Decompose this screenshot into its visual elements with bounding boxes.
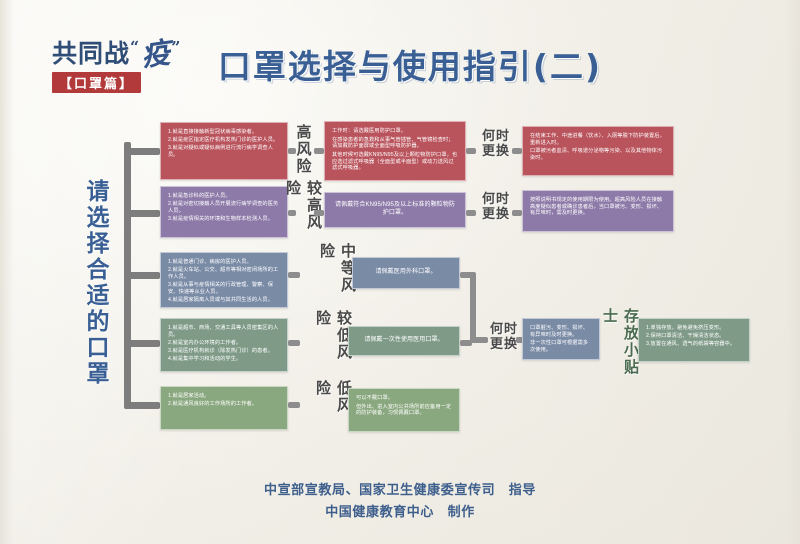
people-list-higher: 1.就是急诊科的医护人员。 2.就是对密切接触人员开展流行病学调查的医务人员。 …: [168, 193, 280, 223]
side-caption: 请选择合适的口罩: [76, 176, 116, 390]
people-box-medium: 1.就是普通门诊、病房的医护人员。 2.就是火车站、公交、超市等相对密闭场所的工…: [160, 252, 288, 308]
mask-box-medium: 请佩戴医用外科口罩。: [352, 257, 460, 289]
people-box-lower: 1.就是超市、商场、交通工具等人员密集区的人员。 2.就是室内办公环境的工作者。…: [160, 318, 288, 372]
page-title: 口罩选择与使用指引(二): [214, 44, 606, 90]
connector-5a: [288, 402, 300, 408]
risk-label-lower: 较低风险: [322, 310, 344, 372]
storage-tips-label: 存放小贴士: [608, 308, 632, 390]
people-box-higher: 1.就是急诊科的医护人员。 2.就是对密切接触人员开展流行病学调查的医务人员。 …: [160, 186, 288, 238]
replace-box-higher: 按照说明书规定的使用期限为使用。超高风险人员在接触高度疑似患者或确诊患者后，当口…: [522, 190, 674, 232]
branch-arm-5: [124, 402, 160, 409]
people-list-lower: 1.就是超市、商场、交通工具等人员密集区的人员。 2.就是室内办公环境的工作者。…: [168, 325, 280, 363]
footer-credits: 中宣部宣教局、国家卫生健康委宣传司 指导 中国健康教育中心 制作: [0, 479, 800, 522]
right-edge-shade: [786, 0, 800, 544]
people-list-low: 1.就是居家活动。 2.就是通风良好的工作场所的工作者。: [168, 393, 280, 408]
branch-arm-1: [124, 148, 160, 155]
people-list-high: 1.就是直接接触新型冠状病毒感染者。 2.就是疫区指定医疗机构发热门诊的医护人员…: [168, 129, 280, 159]
branch-arm-2: [124, 210, 160, 217]
connector-1c: [466, 148, 476, 154]
branch-arm-3: [124, 272, 160, 279]
infographic-poster: 共同战“疫” 【口罩篇】 口罩选择与使用指引(二) 请选择合适的口罩 1.就是直…: [0, 0, 800, 544]
storage-tips-list: 1.单独存放，避免避免挤压变形。 2.保持口罩清洁、干燥清洁状态。 3.放置在通…: [646, 325, 742, 348]
risk-label-medium: 中等风险: [326, 243, 348, 305]
mask-box-lower: 请佩戴一次性使用医用口罩。: [348, 326, 460, 356]
mask-box-high: 工作时：请选戴医用防护口罩。 在感染患者的急救和从事气管插管、气管镜检查时；请加…: [324, 121, 466, 181]
mask-box-low: 可以不戴口罩。 但外出、进入室内公共场所前应备用一定的防护装备，习惯佩戴口罩。: [348, 388, 460, 432]
footer-line-2: 中国健康教育中心 制作: [0, 501, 800, 522]
when-replace-label-1: 何时更换: [478, 129, 514, 158]
left-edge-shade: [0, 0, 14, 544]
merge-rail: [470, 272, 476, 340]
risk-label-low: 低风险: [322, 380, 344, 428]
connector-2c: [466, 210, 476, 216]
people-box-high: 1.就是直接接触新型冠状病毒感染者。 2.就是疫区指定医疗机构发热门诊的医护人员…: [160, 122, 288, 180]
connector-2d: [512, 210, 522, 216]
storage-tips-box: 1.单独存放，避免避免挤压变形。 2.保持口罩清洁、干燥清洁状态。 3.放置在通…: [638, 318, 750, 362]
connector-2b: [314, 210, 324, 216]
replace-box-shared: 口罩脏污、变形、损坏、有异味时及时更换。 非一次性口罩可根据需多次使用。: [522, 318, 600, 360]
logo-main-text: 共同战“疫”: [52, 38, 232, 67]
footer-line-1: 中宣部宣教局、国家卫生健康委宣传司 指导: [0, 479, 800, 500]
connector-4a: [288, 340, 300, 346]
people-box-low: 1.就是居家活动。 2.就是通风良好的工作场所的工作者。: [160, 386, 288, 430]
connector-3a: [288, 272, 300, 278]
branch-arm-4: [124, 340, 160, 347]
when-replace-label-2: 何时更换: [478, 192, 514, 221]
connector-1d: [512, 148, 522, 154]
campaign-logo: 共同战“疫” 【口罩篇】: [52, 38, 232, 94]
connector-1b: [314, 148, 324, 154]
people-list-medium: 1.就是普通门诊、病房的医护人员。 2.就是火车站、公交、超市等相对密闭场所的工…: [168, 259, 280, 303]
replace-box-high: 在结束工作、中途进餐（饮水）、入厕等脱下防护装置后，重新进入时。 口罩被污者血渍…: [522, 126, 674, 176]
mask-box-higher: 请佩戴符合KN95/N95及以上标准的颗粒物防护口罩。: [324, 192, 466, 228]
risk-label-higher: 较高风险: [292, 180, 314, 242]
risk-label-high: 高风险: [292, 120, 314, 178]
connector-4b: [460, 340, 472, 346]
logo-subtitle: 【口罩篇】: [52, 72, 141, 93]
